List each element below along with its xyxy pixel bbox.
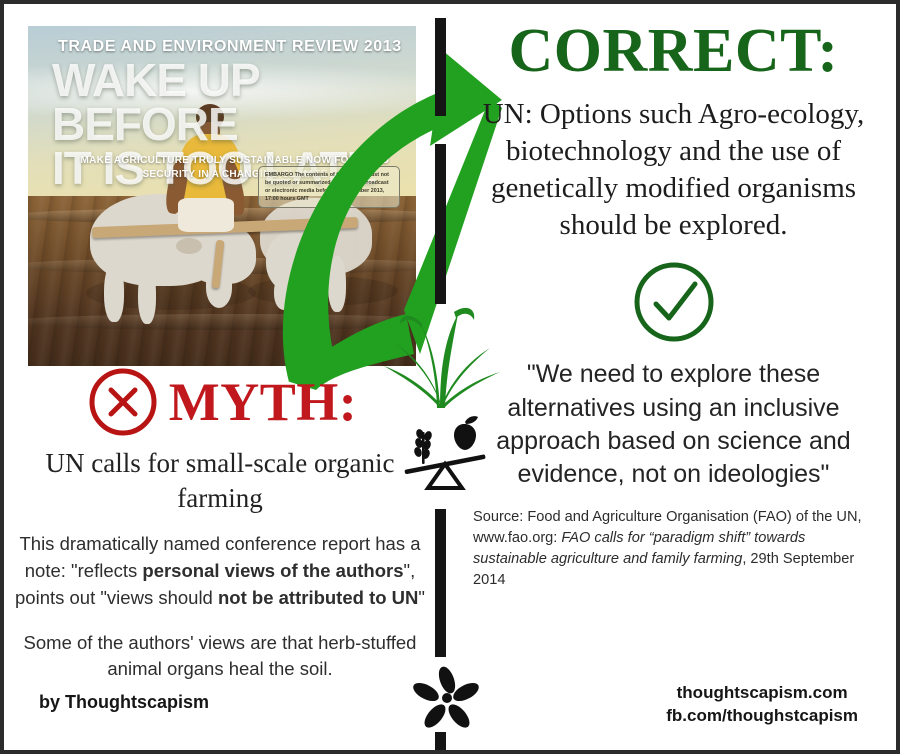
infographic-poster: TRADE AND ENVIRONMENT REVIEW 2013 WAKE U… [0,0,900,754]
ox-left-leg [104,262,124,322]
ox-right-muzzle [274,274,296,310]
myth-claim: UN calls for small-scale organic farming [14,446,426,515]
myth-block: MYTH: UN calls for small-scale organic f… [14,366,426,683]
right-column: CORRECT: UN: Options such Agro-ecology, … [447,4,900,750]
x-circle-icon [87,366,159,438]
myth-note-secondary: Some of the authors' views are that herb… [14,630,426,684]
myth-note: This dramatically named conference repor… [14,531,426,611]
cover-embargo-note: EMBARGO The contents of this Report must… [258,166,400,208]
ox-left-leg [138,266,156,324]
ox-right-leg [328,256,346,312]
site-links: thoughtscapism.com fb.com/thoughstcapism [666,682,858,728]
correct-heading: CORRECT: [447,20,900,82]
correct-body: UN: Options such Agro-ecology, biotechno… [465,96,882,244]
myth-heading: MYTH: [169,375,357,429]
field-ridge [28,314,416,330]
report-cover-image: TRADE AND ENVIRONMENT REVIEW 2013 WAKE U… [28,26,416,366]
facebook-link[interactable]: fb.com/thoughstcapism [666,705,858,728]
source-citation: Source: Food and Agriculture Organisatio… [473,507,878,590]
divider-segment [435,732,446,750]
left-column: TRADE AND ENVIRONMENT REVIEW 2013 WAKE U… [4,4,436,750]
ox-left-ear [176,238,202,254]
myth-heading-row: MYTH: [14,366,426,438]
check-circle-icon [630,258,718,346]
divider-segment [435,144,446,304]
byline: by Thoughtscapism [39,692,209,713]
farmer-dhoti [178,198,234,232]
website-link[interactable]: thoughtscapism.com [666,682,858,705]
divider-segment [435,509,446,657]
fao-quote: "We need to explore these alternatives u… [461,358,886,491]
divider-segment [435,18,446,116]
